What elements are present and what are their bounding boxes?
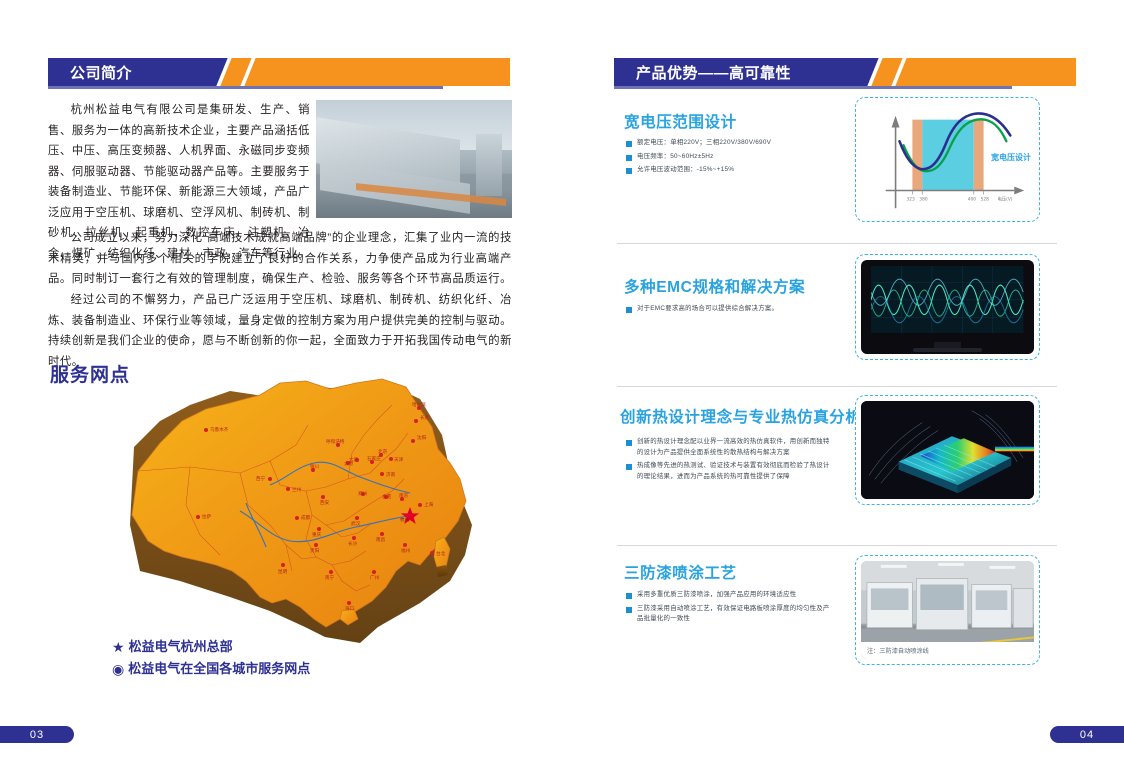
svg-text:380: 380 — [919, 196, 928, 202]
feature-3-bullets: 创新的热设计理念配以业界一流高效的热仿真软件，用创新而独特的设计为产品提供全面系… — [626, 437, 831, 485]
feature-1-bullets: 额定电压：单相220V；三相220V/380V/690V 电压频率：50~60H… — [626, 138, 831, 179]
bullet-square-icon — [626, 593, 632, 599]
bullet-item: 热成像等先进的热测试、验证技术与装置有效彻底而检验了热设计的理论结果，进而为产品… — [626, 461, 831, 482]
svg-text:合肥: 合肥 — [382, 493, 392, 500]
left-page: 公司简介 杭州松益电气有限公司是集研发、生产、销售、服务为一体的高新技术企业，主… — [0, 0, 562, 765]
map-taiwan-side — [436, 565, 448, 577]
bullet-item: 允许电压波动范围：-15%~+15% — [626, 165, 831, 176]
feature-2-bullets: 对于EMC要求高的场合可以提供综合解决方案。 — [626, 304, 831, 318]
svg-text:杭州: 杭州 — [400, 516, 410, 523]
right-header-orange-block — [887, 58, 1076, 86]
svg-text:南宁: 南宁 — [325, 574, 335, 581]
feature-3-title: 创新热设计理念与专业热仿真分析 — [620, 405, 862, 427]
svg-text:拉萨: 拉萨 — [202, 513, 212, 520]
svg-text:323: 323 — [906, 196, 915, 202]
page-number-left: 03 — [0, 726, 74, 743]
dot-icon: ◉ — [112, 658, 124, 680]
svg-text:北京: 北京 — [378, 448, 388, 455]
svg-text:广州: 广州 — [370, 574, 380, 581]
feature-emc: 多种EMC规格和解决方案 对于EMC要求高的场合可以提供综合解决方案。 — [562, 272, 1124, 382]
bullet-item: 三防漆采用自动喷涂工艺，有效保证电路板喷涂厚度的均匀性及产品批量化的一致性 — [626, 604, 831, 625]
bullet-item: 对于EMC要求高的场合可以提供综合解决方案。 — [626, 304, 831, 315]
chart-annotation-label: 宽电压设计 — [991, 152, 1031, 163]
chart-band-high — [974, 120, 984, 191]
right-header-title-bar: 产品优势——高可靠性 — [614, 58, 869, 86]
china-map-svg: 乌鲁木齐拉萨 西宁兰州 银川呼和浩特 太原西安 成都重庆 昆明贵阳 南宁长沙 武… — [120, 375, 490, 665]
svg-text:哈尔滨: 哈尔滨 — [412, 401, 426, 408]
chart-band-wide — [922, 120, 973, 191]
bullet-square-icon — [626, 607, 632, 613]
right-page: 产品优势——高可靠性 宽电压范围设计 额定电压：单相220V；三相220V/38… — [562, 0, 1124, 765]
bullet-square-icon — [626, 464, 632, 470]
brochure-spread: 公司简介 杭州松益电气有限公司是集研发、生产、销售、服务为一体的高新技术企业，主… — [0, 0, 1124, 765]
chart-tick-labels: 323 380 400 528 电压(V) — [906, 195, 1012, 202]
monitor-base — [913, 348, 982, 352]
svg-text:台北: 台北 — [436, 550, 446, 557]
star-icon: ★ — [112, 636, 125, 658]
bullet-square-icon — [626, 307, 632, 313]
left-header-underline — [48, 86, 443, 89]
left-header-title: 公司简介 — [70, 62, 132, 83]
thermal-sim-svg — [861, 401, 1034, 499]
factory-photo — [316, 100, 512, 218]
oscilloscope-screen — [871, 266, 1023, 334]
svg-text:西宁: 西宁 — [256, 475, 266, 482]
map-legend: ★ 松益电气杭州总部 ◉ 松益电气在全国各城市服务网点 — [112, 636, 310, 680]
svg-text:528: 528 — [981, 196, 990, 202]
bullet-item: 采用多重优质三防漆喷涂，加强产品应用的环境适应性 — [626, 590, 831, 601]
thermal-image-card — [855, 395, 1040, 505]
legend-item-hq: ★ 松益电气杭州总部 — [112, 636, 310, 658]
svg-text:昆明: 昆明 — [278, 569, 288, 575]
wide-voltage-chart-card: 323 380 400 528 电压(V) 宽电压设计 — [855, 97, 1040, 222]
bullet-square-icon — [626, 168, 632, 174]
chart-x-arrow — [1014, 187, 1024, 195]
feature-2-title: 多种EMC规格和解决方案 — [624, 275, 805, 297]
thermal-image-inner — [861, 401, 1034, 499]
thermal-simulation-image — [861, 401, 1034, 499]
svg-text:银川: 银川 — [310, 463, 320, 470]
svg-text:长春: 长春 — [420, 414, 430, 421]
legend-hq-label: 松益电气杭州总部 — [129, 636, 233, 658]
right-page-header-banner: 产品优势——高可靠性 — [614, 58, 1076, 86]
bullet-item: 电压频率：50~60Hz±5Hz — [626, 152, 831, 163]
svg-text:南京: 南京 — [399, 492, 409, 499]
svg-text:西安: 西安 — [320, 499, 330, 506]
bullet-item: 额定电压：单相220V；三相220V/380V/690V — [626, 138, 831, 149]
svg-text:天津: 天津 — [394, 456, 404, 463]
legend-branches-label: 松益电气在全国各城市服务网点 — [128, 658, 310, 680]
svg-text:重庆: 重庆 — [312, 531, 322, 538]
svg-text:上海: 上海 — [424, 501, 434, 508]
svg-text:沈阳: 沈阳 — [417, 434, 427, 441]
emc-oscilloscope-photo — [861, 260, 1034, 354]
svg-text:南昌: 南昌 — [376, 536, 386, 543]
feature-1-title: 宽电压范围设计 — [624, 110, 737, 132]
emc-photo-inner — [861, 260, 1034, 354]
feature-4-title: 三防漆喷涂工艺 — [624, 561, 737, 583]
left-header-title-bar: 公司简介 — [48, 58, 218, 86]
thermal-color-scale — [995, 447, 1034, 452]
svg-text:兰州: 兰州 — [292, 486, 302, 493]
legend-item-branches: ◉ 松益电气在全国各城市服务网点 — [112, 658, 310, 680]
wide-voltage-chart: 323 380 400 528 电压(V) 宽电压设计 — [856, 98, 1039, 221]
svg-text:400: 400 — [968, 196, 977, 202]
oscilloscope-waveforms — [871, 266, 1023, 334]
coating-photo-caption: 注：三防漆自动喷涂线 — [861, 642, 1034, 659]
bullet-square-icon — [626, 440, 632, 446]
svg-text:呼和浩特: 呼和浩特 — [326, 438, 345, 445]
svg-text:大连: 大连 — [349, 456, 359, 463]
svg-text:乌鲁木齐: 乌鲁木齐 — [210, 426, 229, 433]
chart-band-low — [912, 120, 922, 191]
svg-text:海口: 海口 — [345, 605, 355, 612]
svg-text:成都: 成都 — [301, 514, 311, 521]
svg-text:电压(V): 电压(V) — [997, 195, 1012, 202]
feature-separator-2 — [617, 386, 1057, 387]
svg-text:长沙: 长沙 — [348, 540, 358, 547]
svg-text:郑州: 郑州 — [358, 490, 368, 497]
bullet-item: 创新的热设计理念配以业界一流高效的热仿真软件，用创新而独特的设计为产品提供全面系… — [626, 437, 831, 458]
company-intro-paragraph-2: 公司成立以来，努力深化“高端技术成就高端品牌”的企业理念，汇集了业内一流的技术精… — [48, 228, 512, 290]
feature-thermal-design: 创新热设计理念与专业热仿真分析 创新的热设计理念配以业界一流高效的热仿真软件，用… — [562, 405, 1124, 540]
feature-4-bullets: 采用多重优质三防漆喷涂，加强产品应用的环境适应性 三防漆采用自动喷涂工艺，有效保… — [626, 590, 831, 628]
china-service-map: 乌鲁木齐拉萨 西宁兰州 银川呼和浩特 太原西安 成都重庆 昆明贵阳 南宁长沙 武… — [120, 375, 490, 665]
service-network-title: 服务网点 — [50, 360, 130, 387]
feature-separator-3 — [617, 545, 1057, 546]
page-number-right: 04 — [1050, 726, 1124, 743]
feature-wide-voltage: 宽电压范围设计 额定电压：单相220V；三相220V/380V/690V 电压频… — [562, 105, 1124, 225]
bullet-square-icon — [626, 141, 632, 147]
bullet-square-icon — [626, 155, 632, 161]
svg-text:武汉: 武汉 — [351, 520, 361, 527]
svg-text:济南: 济南 — [386, 471, 396, 478]
coating-photo-inner: 注：三防漆自动喷涂线 — [861, 561, 1034, 659]
feature-conformal-coating: 三防漆喷涂工艺 采用多重优质三防漆喷涂，加强产品应用的环境适应性 三防漆采用自动… — [562, 558, 1124, 688]
svg-text:石家庄: 石家庄 — [367, 455, 381, 462]
coating-photo-card: 注：三防漆自动喷涂线 — [855, 555, 1040, 665]
right-header-underline — [614, 86, 1012, 89]
feature-separator-1 — [617, 243, 1057, 244]
left-page-header-banner: 公司简介 — [48, 58, 510, 86]
left-header-orange-block — [236, 58, 510, 86]
svg-text:贵阳: 贵阳 — [310, 547, 320, 554]
photo-office-tower — [476, 134, 502, 196]
emc-photo-card — [855, 254, 1040, 360]
coating-line-photo: 注：三防漆自动喷涂线 — [861, 561, 1034, 659]
chart-y-arrow — [892, 116, 900, 128]
right-header-title: 产品优势——高可靠性 — [636, 62, 791, 83]
svg-text:福州: 福州 — [401, 547, 411, 554]
